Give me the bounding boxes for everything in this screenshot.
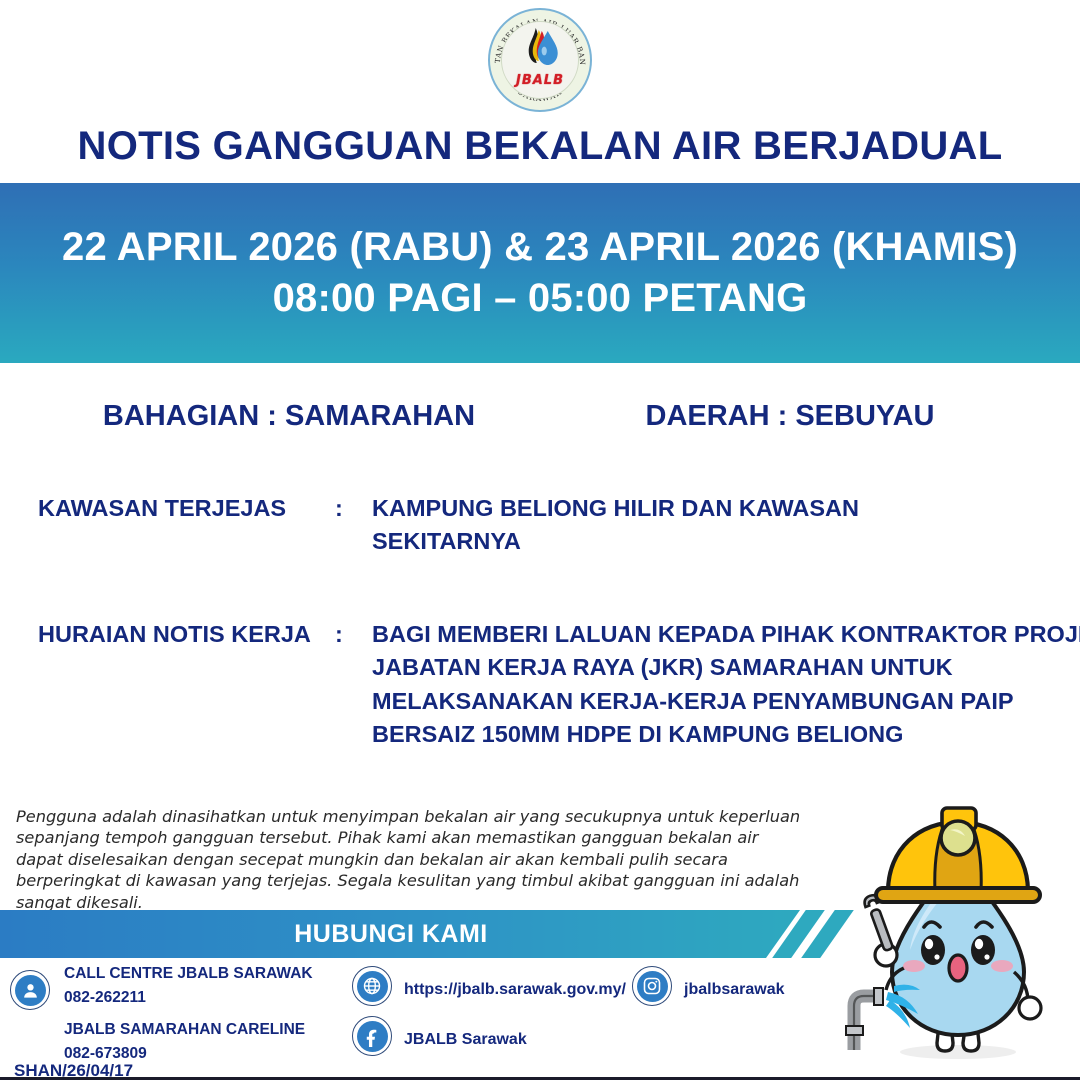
person-icon <box>10 970 50 1010</box>
call-centre-label: CALL CENTRE JBALB SARAWAK <box>64 962 313 986</box>
instagram-glyph <box>642 976 662 996</box>
contact-banner: HUBUNGI KAMI <box>0 910 800 958</box>
district-label: DAERAH : SEBUYAU <box>540 400 1080 433</box>
work-description-row: HURAIAN NOTIS KERJA : BAGI MEMBERI LALUA… <box>38 618 1048 751</box>
affected-area-line: KAMPUNG BELIONG HILIR DAN KAWASAN <box>372 492 1048 525</box>
logo-wordmark: JBALB <box>488 73 592 88</box>
work-description-label: HURAIAN NOTIS KERJA <box>38 618 335 651</box>
call-centre-block: CALL CENTRE JBALB SARAWAK 082-262211 JBA… <box>64 962 313 1065</box>
affected-area-line: SEKITARNYA <box>372 525 1048 558</box>
water-droplet-flame-icon <box>526 26 560 70</box>
notice-dates: 22 APRIL 2026 (RABU) & 23 APRIL 2026 (KH… <box>62 225 1018 270</box>
person-glyph <box>21 981 40 1000</box>
reference-code: SHAN/26/04/17 <box>14 1058 133 1080</box>
work-description-value: BAGI MEMBERI LALUAN KEPADA PIHAK KONTRAK… <box>372 618 1080 751</box>
instagram-icon[interactable] <box>632 966 672 1006</box>
contact-banner-title: HUBUNGI KAMI <box>294 920 488 949</box>
work-description-line: BAGI MEMBERI LALUAN KEPADA PIHAK KONTRAK… <box>372 618 1080 651</box>
call-centre-number[interactable]: 082-262211 <box>64 986 313 1010</box>
affected-area-colon: : <box>335 492 372 525</box>
affected-area-label: KAWASAN TERJEJAS <box>38 492 335 525</box>
facebook-icon[interactable] <box>352 1016 392 1056</box>
instagram-handle[interactable]: jbalbsarawak <box>684 978 785 1002</box>
notice-time: 08:00 PAGI – 05:00 PETANG <box>273 276 808 321</box>
careline-label: JBALB SAMARAHAN CARELINE <box>64 1018 313 1042</box>
page-title: NOTIS GANGGUAN BEKALAN AIR BERJADUAL <box>0 124 1080 169</box>
water-disruption-notice-poster: JABATAN BEKALAN AIR LUAR BANDAR SARAWAK … <box>0 0 1080 1080</box>
contact-details: CALL CENTRE JBALB SARAWAK 082-262211 JBA… <box>0 958 830 1080</box>
work-description-line: BERSAIZ 150MM HDPE DI KAMPUNG BELIONG <box>372 718 1080 751</box>
work-description-colon: : <box>335 618 372 651</box>
water-droplet-mascot <box>836 800 1080 1075</box>
globe-icon[interactable] <box>352 966 392 1006</box>
website-url[interactable]: https://jbalb.sarawak.gov.my/ <box>404 978 626 1002</box>
work-description-line: JABATAN KERJA RAYA (JKR) SAMARAHAN UNTUK <box>372 651 1080 684</box>
disclaimer-text: Pengguna adalah dinasihatkan untuk menyi… <box>16 806 806 913</box>
affected-area-value: KAMPUNG BELIONG HILIR DAN KAWASAN SEKITA… <box>372 492 1048 559</box>
globe-glyph <box>362 976 382 996</box>
region-row: BAHAGIAN : SAMARAHAN DAERAH : SEBUYAU <box>0 400 1080 433</box>
work-description-line: MELAKSANAKAN KERJA-KERJA PENYAMBUNGAN PA… <box>372 685 1080 718</box>
affected-area-row: KAWASAN TERJEJAS : KAMPUNG BELIONG HILIR… <box>38 492 1048 559</box>
jbalb-logo: JABATAN BEKALAN AIR LUAR BANDAR SARAWAK … <box>488 8 592 112</box>
date-time-banner: 22 APRIL 2026 (RABU) & 23 APRIL 2026 (KH… <box>0 183 1080 363</box>
division-label: BAHAGIAN : SAMARAHAN <box>0 400 540 433</box>
facebook-handle[interactable]: JBALB Sarawak <box>404 1028 527 1052</box>
facebook-glyph <box>361 1025 383 1047</box>
